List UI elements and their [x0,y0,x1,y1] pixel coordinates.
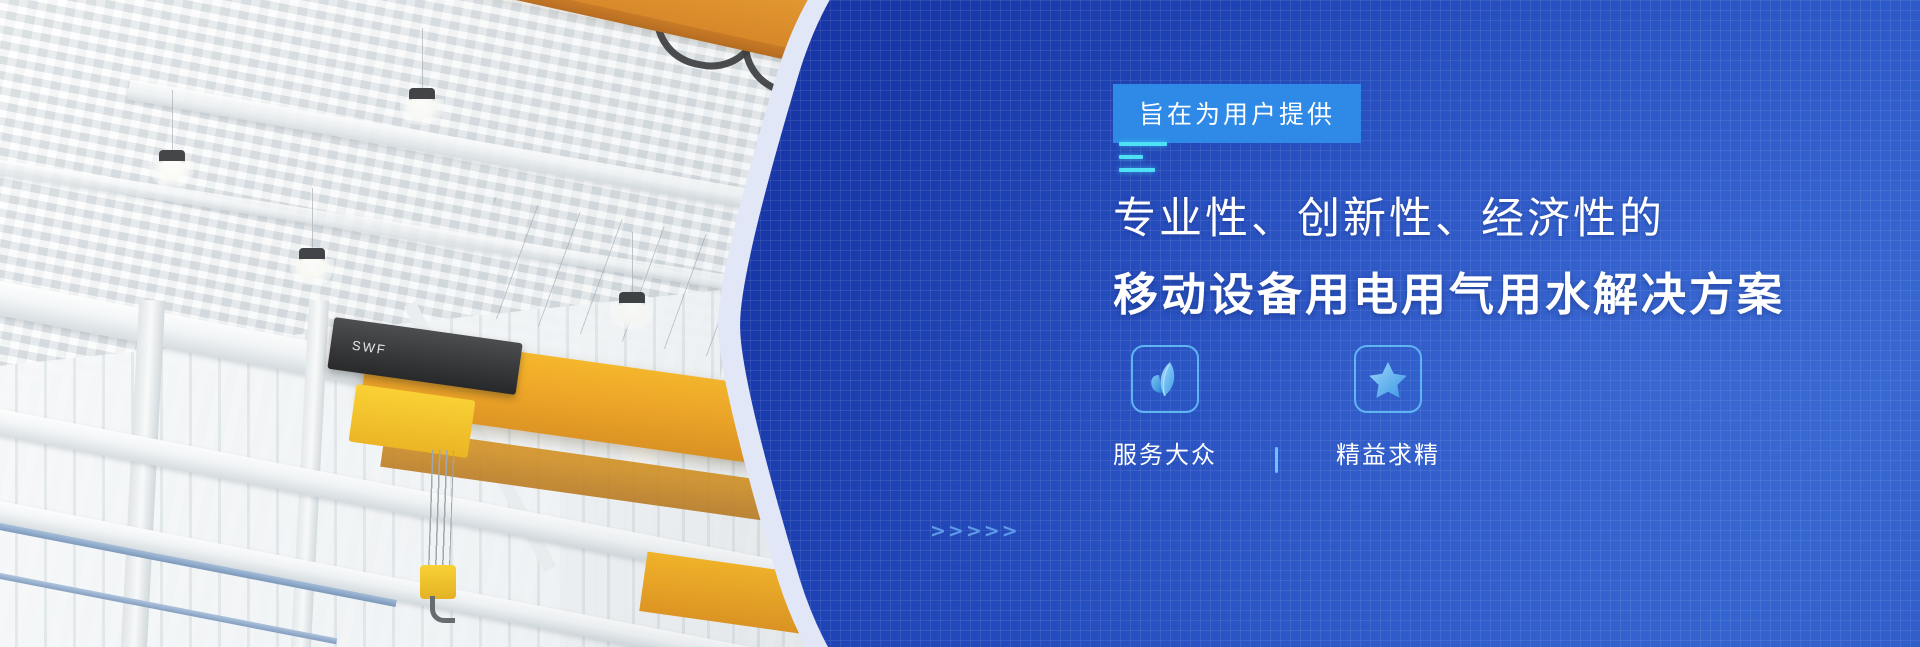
feature-label: 服务大众 [1113,435,1217,470]
decor-line [1119,155,1143,159]
leaf-icon-box [1131,345,1199,413]
feature-list: 服务大众 精益求精 [1113,345,1440,473]
headline-line-1: 专业性、创新性、经济性的 [1113,184,1665,246]
feature-item-service[interactable]: 服务大众 [1113,345,1217,470]
three-lines-decor-icon [1119,142,1189,181]
tagline-badge-text: 旨在为用户提供 [1139,101,1335,129]
chevron-right-icon: > [984,522,1000,541]
chevron-arrows-icon: > > > > > [930,522,1018,541]
chevron-right-icon: > [948,522,964,541]
feature-item-excellence[interactable]: 精益求精 [1336,345,1440,470]
hero-content: 旨在为用户提供 专业性、创新性、经济性的 移动设备用电用气用水解决方案 [1113,0,1920,647]
star-icon-box [1354,345,1422,413]
hero-banner: SWF > > > > > 旨在为用户提供 专业性、创新性、经济性的 [0,0,1920,647]
headline-line-2: 移动设备用电用气用水解决方案 [1113,258,1785,323]
tagline-badge: 旨在为用户提供 [1113,84,1361,143]
chevron-right-icon: > [966,522,982,541]
chevron-right-icon: > [930,522,946,541]
chevron-right-icon: > [1002,522,1018,541]
feature-label: 精益求精 [1336,435,1440,470]
leaf-icon [1146,359,1184,399]
decor-line [1119,142,1167,146]
feature-separator [1275,447,1278,473]
decor-line [1119,168,1155,172]
star-icon [1368,359,1408,399]
